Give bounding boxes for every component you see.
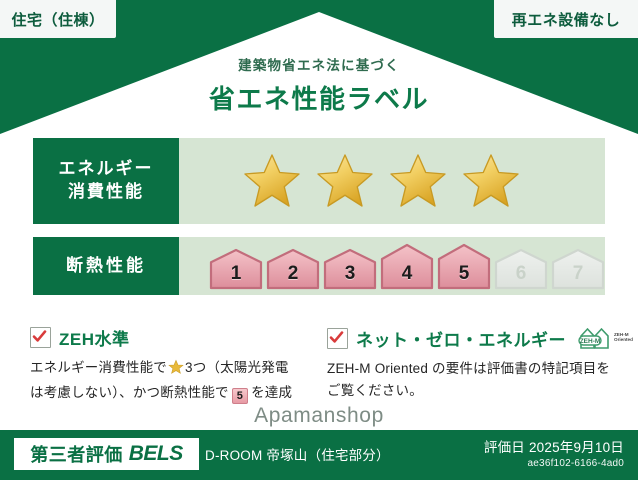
insulation-grade-number: 5 <box>437 263 491 285</box>
zeh-m-logo-icon: ZEH-M ZEH-M Oriented <box>578 325 633 351</box>
info-left-text-part1: エネルギー消費性能で <box>30 360 167 375</box>
row-energy-body <box>179 138 605 224</box>
insulation-grade-scale: 1234567 <box>179 243 605 290</box>
insulation-grade-inactive: 6 <box>494 248 548 290</box>
info-block-net-zero-energy: ネット・ゼロ・エネルギー ZEH-M ZEH-M Oriented ZEH-M … <box>327 325 617 402</box>
checkbox-checked-icon <box>30 327 51 348</box>
row-insulation-label-text: 断熱性能 <box>66 255 146 278</box>
bels-logo-en: BELS <box>129 442 183 466</box>
title-block: 建築物省エネ法に基づく 省エネ性能ラベル <box>0 54 638 116</box>
star-rating <box>179 151 522 211</box>
svg-text:ZEH-M: ZEH-M <box>580 338 601 345</box>
zeh-logo-sub2: Oriented <box>614 338 633 343</box>
tag-renewable-energy-label: 再エネ設備なし <box>512 9 621 30</box>
tag-renewable-energy: 再エネ設備なし <box>494 0 638 38</box>
inline-star-icon <box>168 359 184 382</box>
insulation-grade-active: 3 <box>323 248 377 290</box>
watermark: Apamanshop <box>0 404 638 428</box>
insulation-grade-number: 6 <box>494 263 548 285</box>
info-right-description: ZEH-M Oriented の要件は評価書の特記項目をご覧ください。 <box>327 358 617 402</box>
info-right-title: ネット・ゼロ・エネルギー <box>356 326 566 351</box>
info-left-title: ZEH水準 <box>59 325 130 350</box>
insulation-grade-active: 4 <box>380 243 434 290</box>
info-right-header: ネット・ゼロ・エネルギー ZEH-M ZEH-M Oriented <box>327 325 617 351</box>
insulation-grade-number: 3 <box>323 263 377 285</box>
tag-building-type-label: 住宅（住棟） <box>11 9 104 30</box>
footer-bar: 第三者評価 BELS D-ROOM 帝塚山（住宅部分） 評価日 2025年9月1… <box>0 430 638 480</box>
row-energy-performance: エネルギー 消費性能 <box>33 138 605 224</box>
info-block-zeh-standard: ZEH水準 エネルギー消費性能で3つ（太陽光発電は考慮しない）、かつ断熱性能で5… <box>30 325 320 404</box>
row-energy-label-line1: エネルギー <box>59 158 154 181</box>
row-energy-label: エネルギー 消費性能 <box>33 138 179 224</box>
info-left-header: ZEH水準 <box>30 325 320 350</box>
bels-logo: 第三者評価 BELS <box>14 438 199 470</box>
energy-label-card: 住宅（住棟） 再エネ設備なし 建築物省エネ法に基づく 省エネ性能ラベル エネルギ… <box>0 0 638 480</box>
insulation-grade-number: 1 <box>209 263 263 285</box>
star-filled-icon <box>387 151 449 211</box>
checkbox-checked-icon-2 <box>327 328 348 349</box>
tag-building-type: 住宅（住棟） <box>0 0 116 38</box>
insulation-grade-inactive: 7 <box>551 248 605 290</box>
row-insulation-performance: 断熱性能 1234567 <box>33 237 605 295</box>
insulation-grade-number: 4 <box>380 263 434 285</box>
info-left-text-part4: を達成 <box>251 385 292 400</box>
bels-logo-jp: 第三者評価 <box>30 441 123 467</box>
insulation-grade-active: 1 <box>209 248 263 290</box>
label-main-title: 省エネ性能ラベル <box>0 79 638 116</box>
insulation-grade-active: 5 <box>437 243 491 290</box>
evaluation-meta: 評価日 2025年9月10日 ae36f102-6166-4ad0 <box>484 436 624 469</box>
evaluation-id: ae36f102-6166-4ad0 <box>484 458 624 469</box>
row-energy-label-line2: 消費性能 <box>68 181 144 204</box>
insulation-grade-number: 7 <box>551 263 605 285</box>
info-left-description: エネルギー消費性能で3つ（太陽光発電は考慮しない）、かつ断熱性能で5を達成 <box>30 357 320 404</box>
row-insulation-label: 断熱性能 <box>33 237 179 295</box>
label-subtitle: 建築物省エネ法に基づく <box>0 54 638 74</box>
project-name: D-ROOM 帝塚山（住宅部分） <box>205 444 390 464</box>
info-left-grade-badge: 5 <box>232 388 248 404</box>
evaluation-date: 評価日 2025年9月10日 <box>484 436 624 456</box>
insulation-grade-active: 2 <box>266 248 320 290</box>
star-filled-icon <box>314 151 376 211</box>
info-left-text-part3: は考慮しない）、かつ断熱性能で <box>30 385 229 400</box>
insulation-grade-number: 2 <box>266 263 320 285</box>
star-filled-icon <box>241 151 303 211</box>
star-filled-icon <box>460 151 522 211</box>
row-insulation-body: 1234567 <box>179 237 605 295</box>
info-left-text-part2: 3つ（太陽光発電 <box>185 360 289 375</box>
